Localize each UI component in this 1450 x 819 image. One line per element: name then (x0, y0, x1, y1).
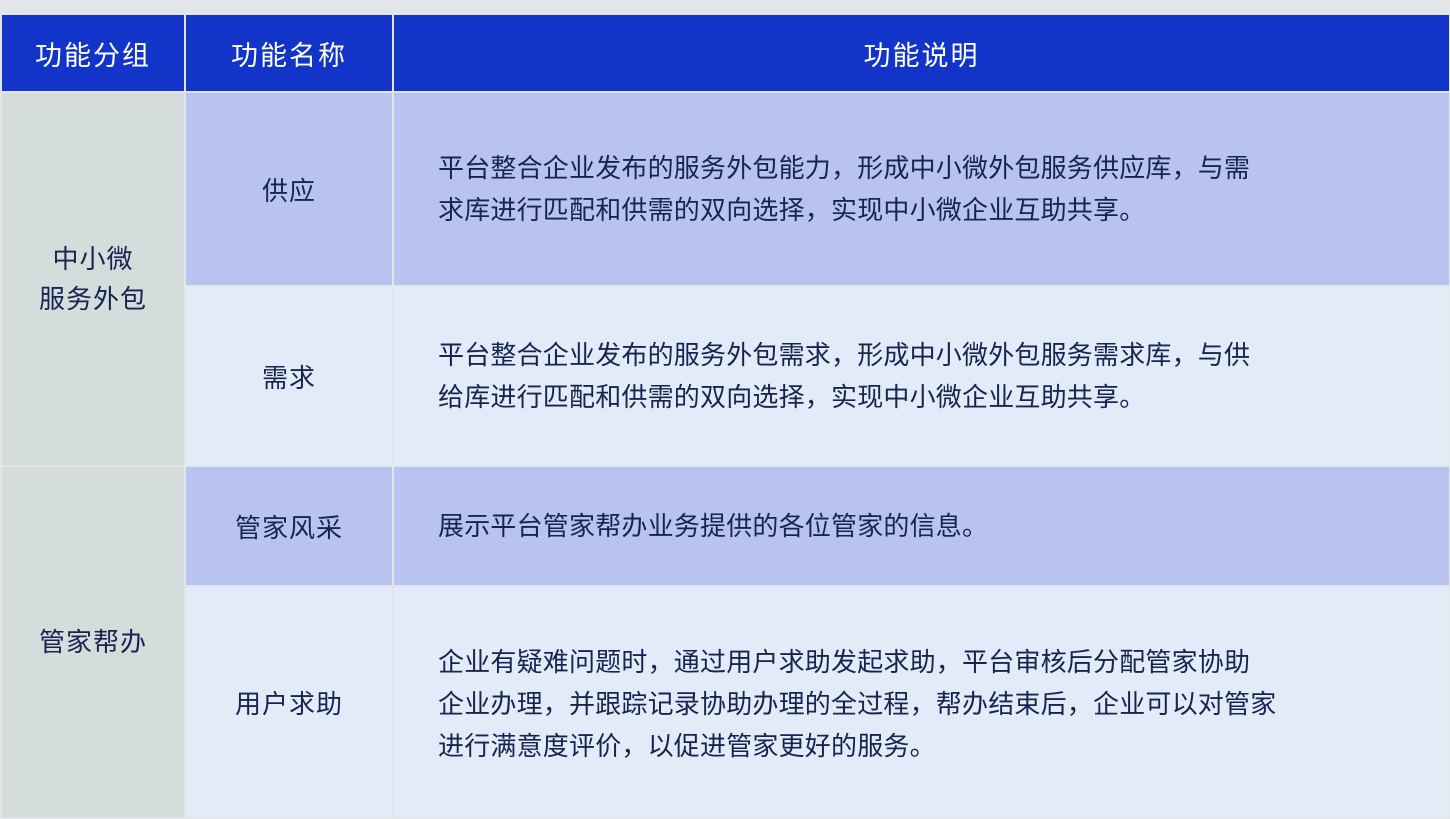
function-description-supply: 平台整合企业发布的服务外包能力，形成中小微外包服务供应库，与需 求库进行匹配和供… (394, 93, 1449, 285)
feature-function-table: 功能分组 功能名称 功能说明 中小微 服务外包 供应 平台整合企业发布的服务外包… (0, 13, 1450, 819)
table-row: 需求 平台整合企业发布的服务外包需求，形成中小微外包服务需求库，与供 给库进行匹… (2, 287, 1449, 465)
function-name-butler-showcase: 管家风采 (186, 467, 392, 585)
page-root: 功能分组 功能名称 功能说明 中小微 服务外包 供应 平台整合企业发布的服务外包… (0, 0, 1450, 816)
function-description-demand: 平台整合企业发布的服务外包需求，形成中小微外包服务需求库，与供 给库进行匹配和供… (394, 287, 1449, 465)
function-name-demand: 需求 (186, 287, 392, 465)
function-name-user-help-request: 用户求助 (186, 587, 392, 817)
description-line-2: 求库进行匹配和供需的双向选择，实现中小微企业互助共享。 (438, 189, 1423, 231)
description-line-2: 给库进行匹配和供需的双向选择，实现中小微企业互助共享。 (438, 376, 1423, 418)
column-header-name: 功能名称 (186, 15, 392, 91)
function-description-butler-showcase: 展示平台管家帮办业务提供的各位管家的信息。 (394, 467, 1449, 585)
group-label-line-1: 管家帮办 (2, 622, 184, 662)
description-line-2: 企业办理，并跟踪记录协助办理的全过程，帮办结束后，企业可以对管家 (438, 683, 1423, 725)
group-label-line-1: 中小微 (2, 239, 184, 279)
description-line-1: 展示平台管家帮办业务提供的各位管家的信息。 (438, 505, 1423, 547)
header-row: 功能分组 功能名称 功能说明 (2, 15, 1449, 91)
table-row: 用户求助 企业有疑难问题时，通过用户求助发起求助，平台审核后分配管家协助 企业办… (2, 587, 1449, 817)
column-header-group: 功能分组 (2, 15, 184, 91)
table-row: 管家帮办 管家风采 展示平台管家帮办业务提供的各位管家的信息。 (2, 467, 1449, 585)
description-line-1: 平台整合企业发布的服务外包能力，形成中小微外包服务供应库，与需 (438, 147, 1423, 189)
group-cell-sme-outsourcing: 中小微 服务外包 (2, 93, 184, 465)
function-name-supply: 供应 (186, 93, 392, 285)
function-description-user-help-request: 企业有疑难问题时，通过用户求助发起求助，平台审核后分配管家协助 企业办理，并跟踪… (394, 587, 1449, 817)
table-row: 中小微 服务外包 供应 平台整合企业发布的服务外包能力，形成中小微外包服务供应库… (2, 93, 1449, 285)
table-body: 中小微 服务外包 供应 平台整合企业发布的服务外包能力，形成中小微外包服务供应库… (2, 93, 1449, 817)
group-label-line-2: 服务外包 (2, 279, 184, 319)
table-header: 功能分组 功能名称 功能说明 (2, 15, 1449, 91)
description-line-1: 平台整合企业发布的服务外包需求，形成中小微外包服务需求库，与供 (438, 334, 1423, 376)
description-line-3: 进行满意度评价，以促进管家更好的服务。 (438, 725, 1423, 767)
column-header-description: 功能说明 (394, 15, 1449, 91)
group-cell-butler-service: 管家帮办 (2, 467, 184, 817)
description-line-1: 企业有疑难问题时，通过用户求助发起求助，平台审核后分配管家协助 (438, 641, 1423, 683)
